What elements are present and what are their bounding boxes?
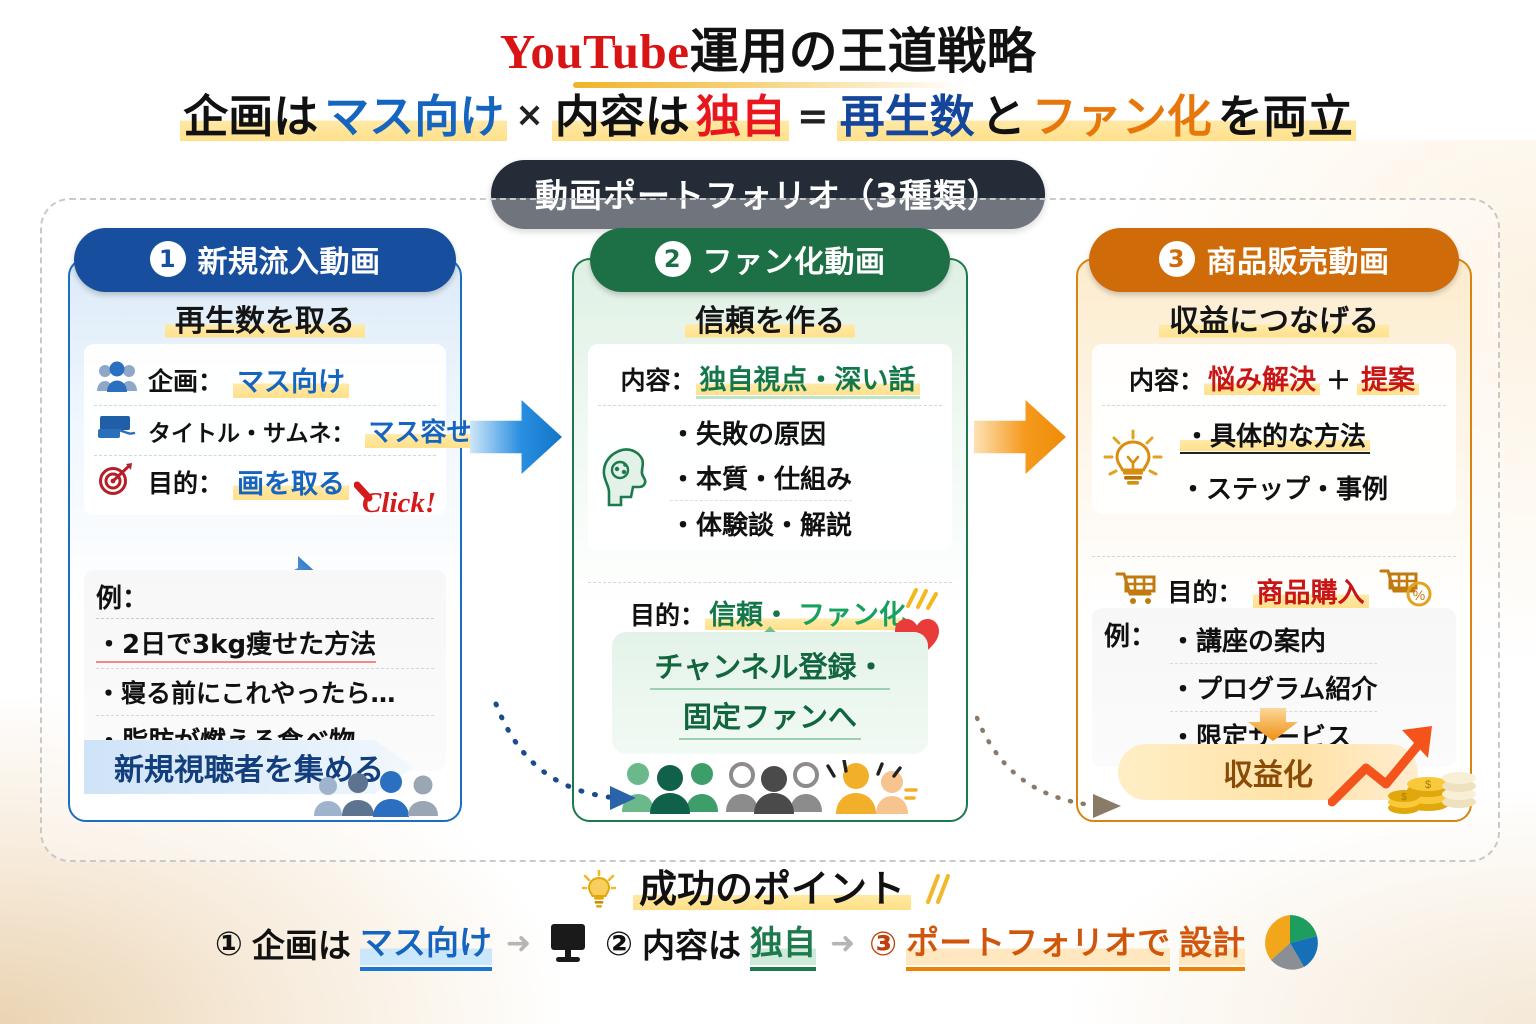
success-points-row: ① 企画は マス向け ➜ ② 内容は 独自 ➜ ③ ポートフォリオで設計 [0, 912, 1536, 974]
success-point-3: ③ ポートフォリオで設計 [869, 916, 1245, 971]
list-item: ・体験談・解説 [670, 501, 852, 546]
column2-bullet-list: ・失敗の原因 ・本質・仕組み ・体験談・解説 [670, 410, 852, 546]
success-point-1: ① 企画は マス向け [215, 916, 492, 971]
success-point-2: ② 内容は 独自 [605, 916, 816, 971]
column1-row-plan: 企画： マス向け [94, 354, 436, 405]
column1-title-thumb-label: タイトル・サムネ： [148, 414, 355, 448]
column2-card: 内容：独自視点・深い話 ・失敗の原因 ・本質・仕組み ・体験談・解説 [588, 344, 952, 550]
list-item: ・失敗の原因 [670, 410, 852, 455]
subtitle-equals-symbol: = [789, 94, 837, 138]
column1-number: 1 [150, 241, 186, 277]
column3-purpose-label: 目的： [1167, 573, 1242, 609]
svg-text:$: $ [1401, 792, 1407, 803]
column2-result-box: チャンネル登録・ 固定ファンへ [612, 632, 928, 754]
title-block: YouTube運用の王道戦略 [0, 12, 1536, 83]
fan-community-icon [620, 760, 920, 816]
column1-title-thumb-value: マス容せ [365, 412, 477, 449]
column3-content-label: 内容： [1129, 366, 1204, 395]
svg-text:$: $ [1425, 779, 1431, 791]
column-product-sales-video: 3 商品販売動画 収益につなげる 内容：悩み解決＋提案 ・具体的な方法 ・ [1076, 258, 1472, 822]
people-icon [96, 361, 138, 398]
column3-purpose-value: 商品購入 [1253, 571, 1369, 610]
down-arrow-orange-icon [1246, 708, 1300, 742]
target-icon [96, 462, 138, 501]
column1-purpose-value: 画を取る [233, 462, 349, 501]
column3-content-value-a: 悩み解決 [1204, 365, 1320, 396]
subtitle: 企画はマス向け×内容は独自=再生数とファン化を両立 [0, 80, 1536, 145]
column-new-inflow-video: 1 新規流入動画 再生数を取る 企画： マス向け [68, 258, 462, 822]
point3-keyword: ポートフォリオで [906, 916, 1170, 971]
bulb-small-icon [582, 870, 616, 910]
column3-content-row: 内容：悩み解決＋提案 [1102, 354, 1446, 406]
column3-bullet-list: ・具体的な方法 ・ステップ・事例 [1180, 412, 1388, 510]
subtitle-unique-keyword: 独自 [693, 80, 789, 145]
column3-content-value-b: 提案 [1357, 365, 1419, 396]
point1-prefix: 企画は [252, 919, 351, 967]
column1-purpose-label: 目的： [148, 464, 223, 500]
brain-head-icon [598, 445, 656, 512]
subtitle-times-symbol: × [507, 95, 552, 135]
point3-keyword-2: 設計 [1179, 916, 1245, 971]
point-separator-arrow: ➜ [830, 926, 855, 961]
list-item: ・具体的な方法 [1180, 412, 1388, 457]
column2-badge-label: ファン化動画 [703, 237, 886, 281]
list-item: ・ステップ・事例 [1180, 457, 1388, 510]
subtitle-part-3: 内容は [552, 80, 693, 145]
svg-text:%: % [1412, 587, 1424, 603]
column1-row-title-thumb: タイトル・サムネ： マス容せ [94, 405, 436, 455]
column2-subtitle: 信頼を作る [574, 296, 966, 340]
point3-number: ③ [869, 924, 897, 963]
column3-badge-label: 商品販売動画 [1207, 237, 1390, 281]
subtitle-views-keyword: 再生数 [837, 80, 978, 145]
point-separator-arrow: ➜ [506, 926, 531, 961]
point1-keyword: マス向け [360, 916, 492, 971]
column1-plan-label: 企画： [148, 362, 223, 398]
column1-example-item: ・寝る前にこれやったら… [96, 668, 434, 715]
discount-cart-icon: % [1379, 567, 1433, 614]
column3-badge: 3 商品販売動画 [1089, 228, 1459, 292]
subtitle-fan-keyword: ファン化 [1029, 80, 1215, 145]
point2-number: ② [605, 924, 633, 963]
list-item: ・本質・仕組み [670, 455, 852, 501]
slash-decoration-icon [924, 872, 954, 906]
revenue-growth-icon: $ $ [1328, 724, 1478, 814]
column1-plan-value: マス向け [233, 360, 349, 399]
thumbnail-icon [96, 412, 138, 449]
column2-content-label: 内容： [620, 366, 695, 395]
subtitle-part-1: 企画は [180, 80, 321, 145]
column2-result-line1: チャンネル登録・ [650, 644, 889, 690]
column-fan-building-video: 2 ファン化動画 信頼を作る 内容：独自視点・深い話 ・失敗の原因 ・本質・仕組… [572, 258, 968, 822]
column3-example-label: 例： [1104, 616, 1156, 759]
subtitle-part-8: を両立 [1215, 80, 1356, 145]
subtitle-part-6: と [978, 80, 1029, 145]
column3-subtitle: 収益につなげる [1078, 296, 1470, 340]
column1-badge: 1 新規流入動画 [74, 228, 456, 292]
monitor-icon [545, 920, 591, 966]
column2-content-value: 独自視点・深い話 [696, 365, 920, 399]
subtitle-mass-keyword: マス向け [321, 80, 507, 145]
column2-badge: 2 ファン化動画 [590, 228, 950, 292]
success-points-label: 成功のポイント [633, 867, 911, 911]
column3-example-item: ・プログラム紹介 [1170, 663, 1377, 711]
click-annotation: Click! [362, 487, 436, 520]
column2-number: 2 [655, 241, 691, 277]
column3-example-item: ・講座の案内 [1170, 616, 1377, 663]
column3-number: 3 [1159, 241, 1195, 277]
column1-example-item: ・2日で3kg痩せた方法 [96, 619, 434, 668]
title-youtube-word: YouTube [500, 24, 690, 79]
column3-purpose-row: 目的：商品購入 % [1092, 556, 1456, 614]
point1-number: ① [215, 924, 243, 963]
point2-keyword: 独自 [750, 916, 816, 971]
success-points-title: 成功のポイント [0, 858, 1536, 913]
column1-subtitle: 再生数を取る [70, 296, 460, 340]
column2-purpose-label: 目的： [630, 601, 705, 630]
sparkle-icon [904, 586, 938, 612]
point2-prefix: 内容は [642, 919, 741, 967]
column1-badge-label: 新規流入動画 [198, 237, 381, 281]
shopping-cart-icon [1115, 570, 1157, 611]
lightbulb-icon [1102, 428, 1164, 495]
column3-card: 内容：悩み解決＋提案 ・具体的な方法 ・ステップ・事例 [1092, 344, 1456, 514]
title-rest: 運用の王道戦略 [690, 24, 1037, 79]
column2-content-row: 内容：独自視点・深い話 [598, 354, 942, 406]
column2-result-line2: 固定ファンへ [679, 694, 861, 740]
column1-example-label: 例： [96, 578, 434, 619]
audience-group-icon [312, 770, 452, 818]
column3-content-plus: ＋ [1320, 366, 1357, 395]
page-title: YouTube運用の王道戦略 [500, 12, 1036, 83]
pie-chart-icon [1259, 912, 1321, 974]
